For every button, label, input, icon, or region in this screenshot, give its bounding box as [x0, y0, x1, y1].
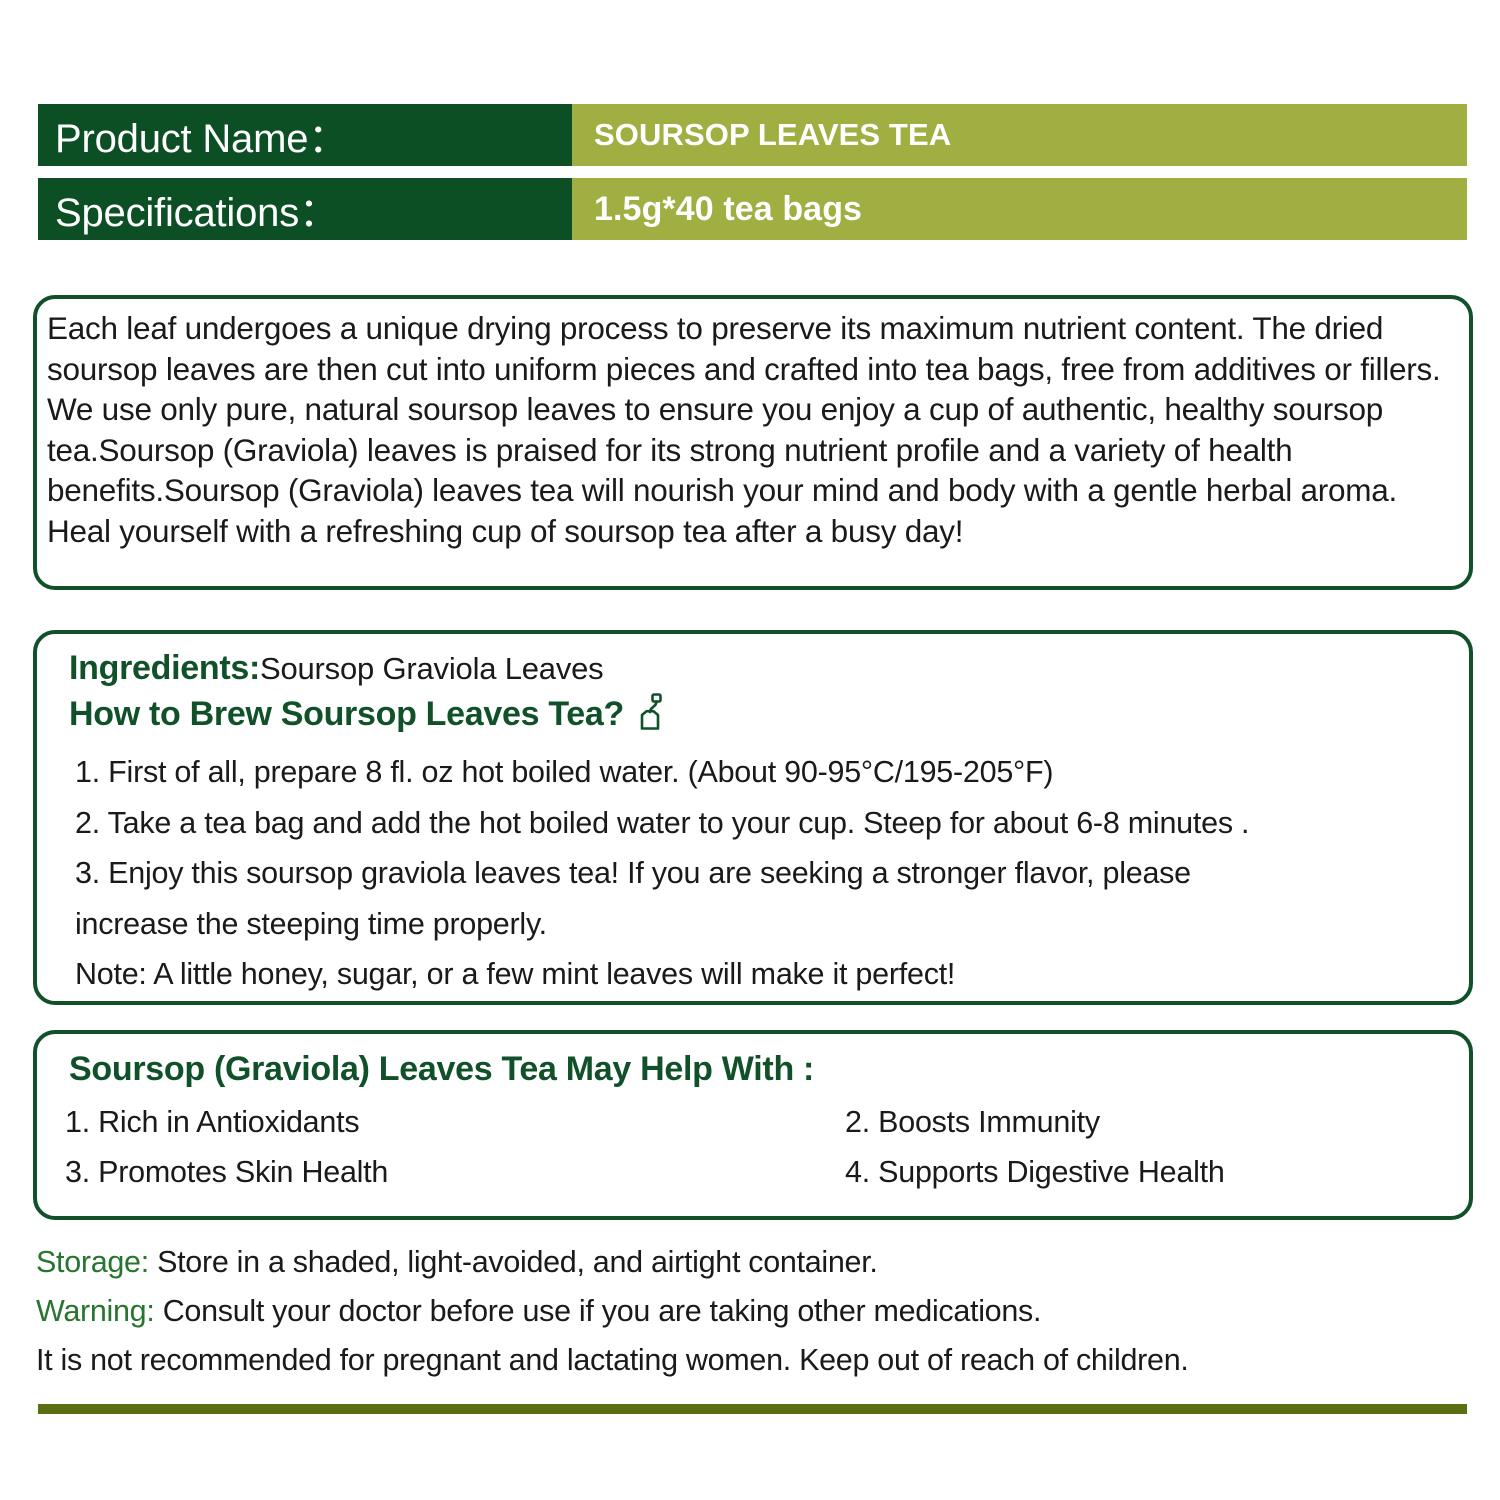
header-table: Product Name： SOURSOP LEAVES TEA Specifi… — [38, 104, 1467, 252]
warning-text: Consult your doctor before use if you ar… — [155, 1294, 1042, 1328]
footer-notes: Storage: Store in a shaded, light-avoide… — [36, 1238, 1470, 1385]
brew-heading-text: How to Brew Soursop Leaves Tea? — [69, 692, 624, 736]
brew-step: 2. Take a tea bag and add the hot boiled… — [75, 798, 1449, 849]
brew-heading-row: How to Brew Soursop Leaves Tea? — [69, 692, 668, 736]
product-name-label: Product Name： — [38, 104, 572, 166]
brew-step-continuation: increase the steeping time properly. — [75, 899, 1449, 950]
specifications-value: 1.5g*40 tea bags — [572, 178, 1467, 240]
description-panel: Each leaf undergoes a unique drying proc… — [33, 295, 1473, 590]
benefit-item: 4. Supports Digestive Health — [845, 1147, 1449, 1197]
ingredients-line: Ingredients:Soursop Graviola Leaves — [69, 646, 603, 691]
warning-line-2: It is not recommended for pregnant and l… — [36, 1336, 1470, 1385]
benefit-item: 2. Boosts Immunity — [845, 1097, 1449, 1147]
benefits-heading: Soursop (Graviola) Leaves Tea May Help W… — [69, 1046, 814, 1092]
benefits-panel: Soursop (Graviola) Leaves Tea May Help W… — [33, 1030, 1473, 1220]
description-text: Each leaf undergoes a unique drying proc… — [47, 308, 1457, 552]
brew-steps-list: 1. First of all, prepare 8 fl. oz hot bo… — [75, 747, 1449, 1000]
header-row-specifications: Specifications： 1.5g*40 tea bags — [38, 178, 1467, 240]
brew-step: 1. First of all, prepare 8 fl. oz hot bo… — [75, 747, 1449, 798]
benefit-item: 3. Promotes Skin Health — [65, 1147, 845, 1197]
storage-label: Storage: — [36, 1245, 149, 1279]
product-name-value: SOURSOP LEAVES TEA — [572, 104, 1467, 166]
teabag-icon — [638, 693, 668, 731]
benefits-list: 1. Rich in Antioxidants 2. Boosts Immuni… — [65, 1097, 1449, 1197]
warning-line: Warning: Consult your doctor before use … — [36, 1287, 1470, 1336]
warning-label: Warning: — [36, 1294, 155, 1328]
footer-divider-bar — [38, 1404, 1467, 1414]
benefit-item: 1. Rich in Antioxidants — [65, 1097, 845, 1147]
storage-text: Store in a shaded, light-avoided, and ai… — [149, 1245, 878, 1279]
product-info-label: Product Name： SOURSOP LEAVES TEA Specifi… — [0, 0, 1500, 1500]
storage-line: Storage: Store in a shaded, light-avoide… — [36, 1238, 1470, 1287]
specifications-label: Specifications： — [38, 178, 572, 240]
brew-step: 3. Enjoy this soursop graviola leaves te… — [75, 848, 1449, 899]
ingredients-value: Soursop Graviola Leaves — [260, 651, 603, 686]
ingredients-label: Ingredients: — [69, 649, 260, 687]
brew-note: Note: A little honey, sugar, or a few mi… — [75, 949, 1449, 1000]
header-row-product-name: Product Name： SOURSOP LEAVES TEA — [38, 104, 1467, 166]
brew-panel: Ingredients:Soursop Graviola Leaves How … — [33, 630, 1473, 1005]
